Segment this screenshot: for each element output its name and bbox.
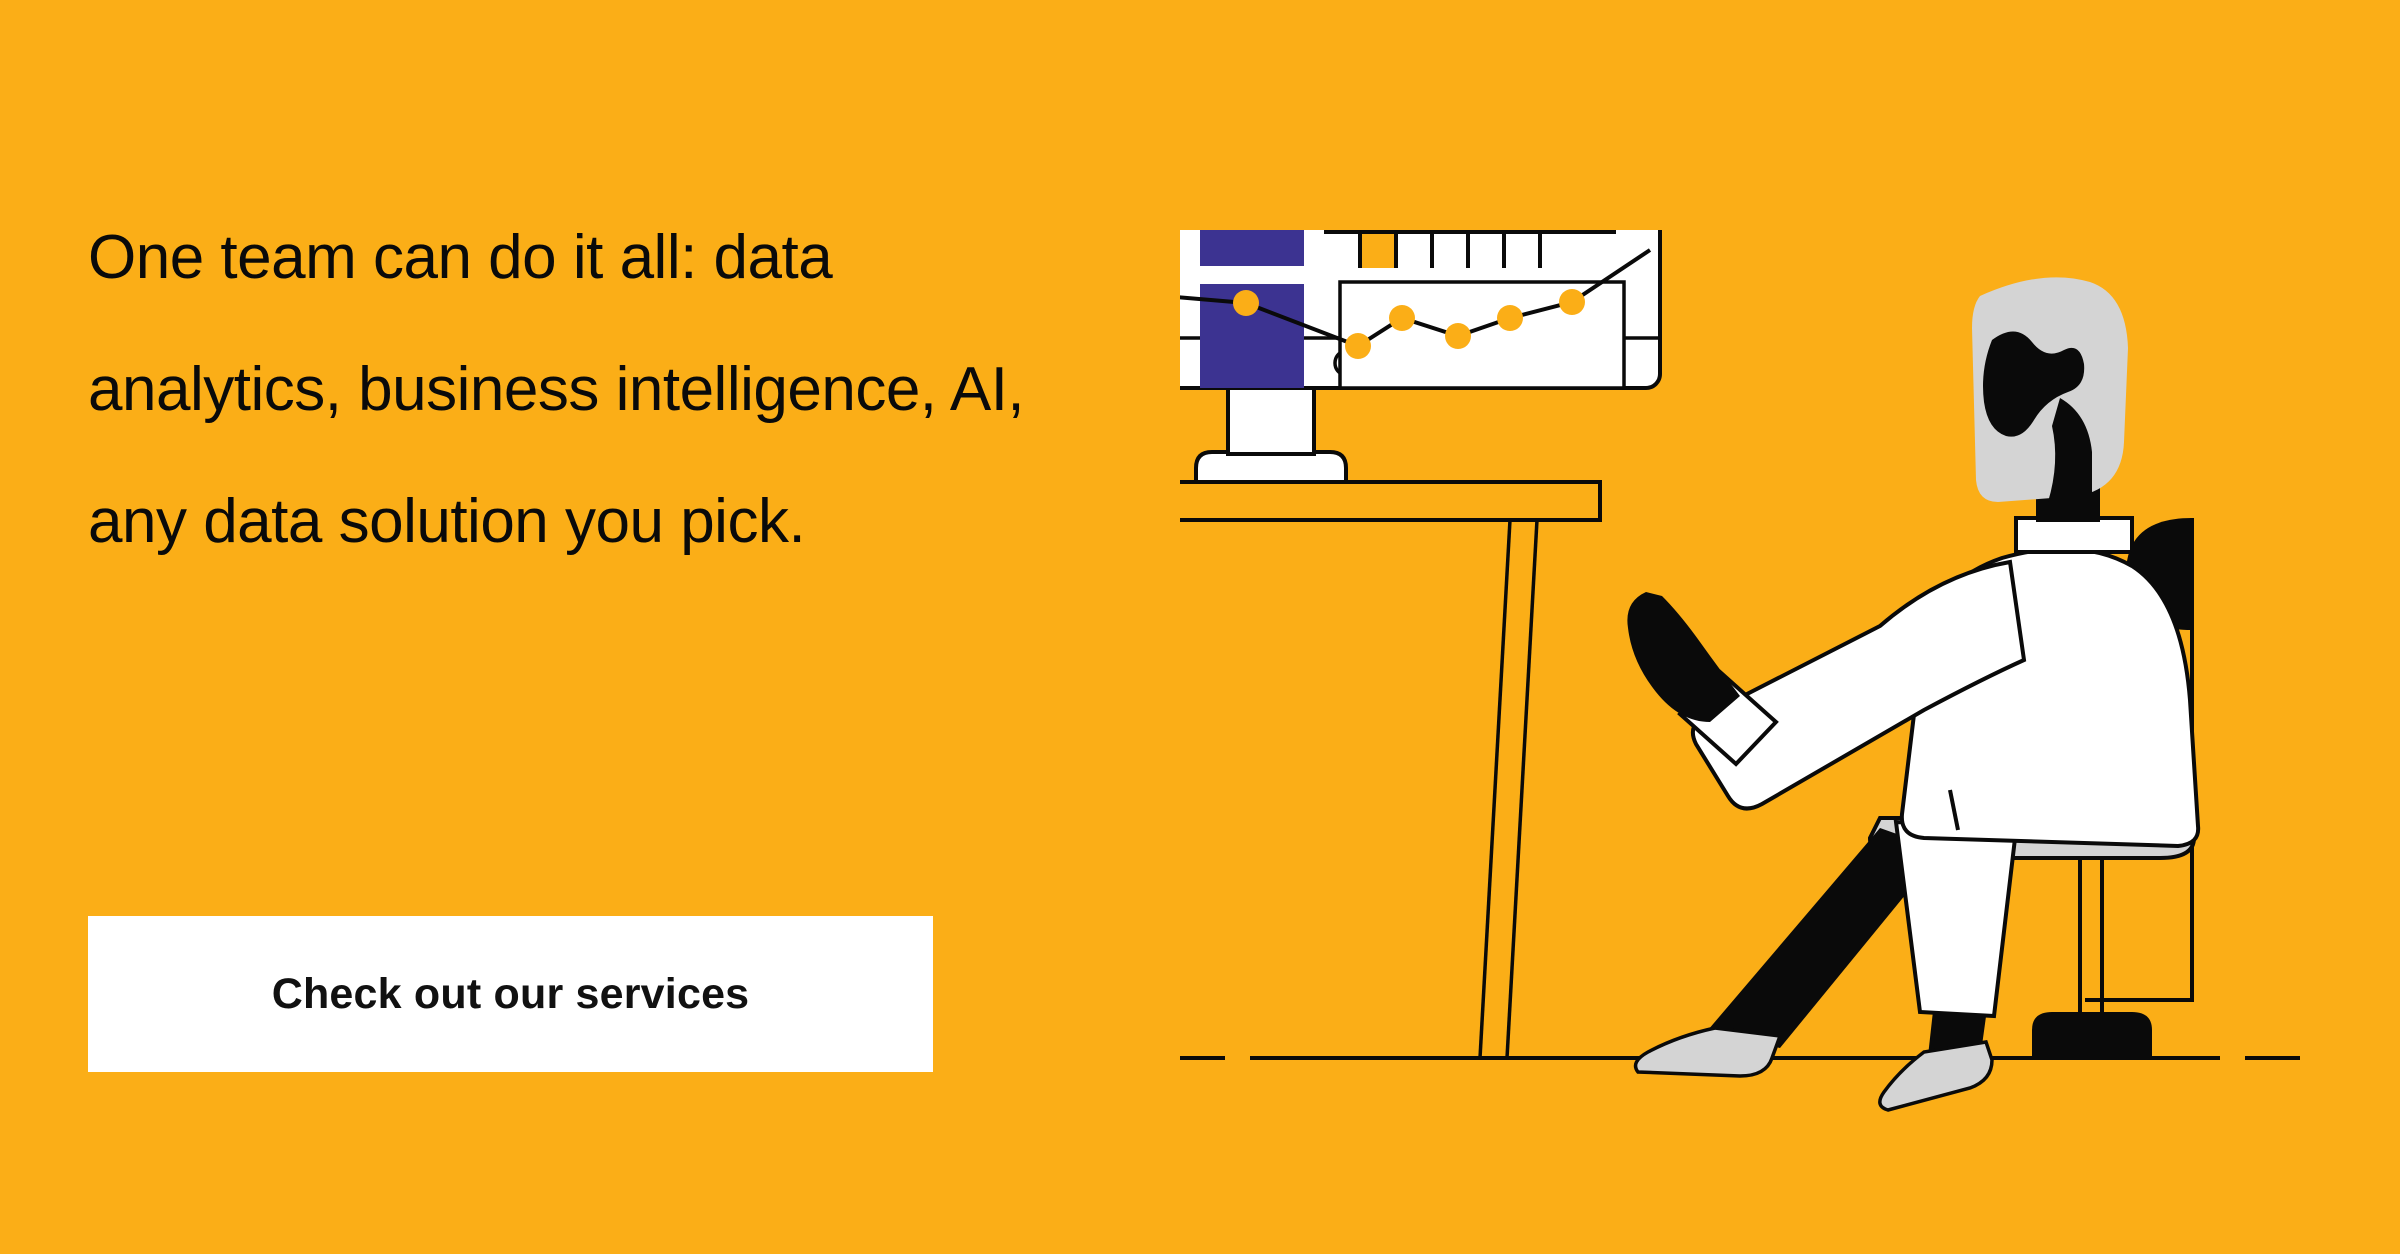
trend-marker bbox=[1345, 333, 1371, 359]
illustration-svg bbox=[1180, 230, 2400, 1130]
shirt-collar bbox=[2016, 518, 2132, 552]
monitor bbox=[1180, 230, 1660, 482]
promo-banner: One team can do it all: data analytics, … bbox=[0, 0, 2400, 1254]
front-leg bbox=[1896, 822, 2016, 1016]
front-shoe bbox=[1880, 1042, 1992, 1110]
grid-cell-bottom-left bbox=[1360, 232, 1396, 268]
purple-tile-top bbox=[1200, 230, 1304, 266]
page-headline: One team can do it all: data analytics, … bbox=[88, 192, 1098, 588]
trend-marker bbox=[1233, 290, 1259, 316]
trend-marker bbox=[1559, 289, 1585, 315]
stool-base bbox=[2032, 1012, 2152, 1058]
desk bbox=[1180, 482, 1600, 1058]
back-shoe bbox=[1636, 1028, 1780, 1076]
desk-legs bbox=[1180, 520, 1537, 1058]
trend-marker bbox=[1497, 305, 1523, 331]
pointing-hand bbox=[1627, 592, 1740, 722]
check-out-services-button[interactable]: Check out our services bbox=[88, 916, 933, 1072]
trend-marker bbox=[1445, 323, 1471, 349]
trend-marker bbox=[1389, 305, 1415, 331]
content-column: One team can do it all: data analytics, … bbox=[88, 0, 1188, 1254]
monitor-stand-base bbox=[1196, 452, 1346, 482]
stool-post bbox=[2080, 844, 2102, 1020]
hero-illustration bbox=[1180, 230, 2400, 1130]
desk-top bbox=[1180, 482, 1600, 520]
cta-button-label: Check out our services bbox=[272, 973, 750, 1016]
monitor-stand-neck bbox=[1228, 386, 1314, 454]
person bbox=[1627, 277, 2198, 1110]
